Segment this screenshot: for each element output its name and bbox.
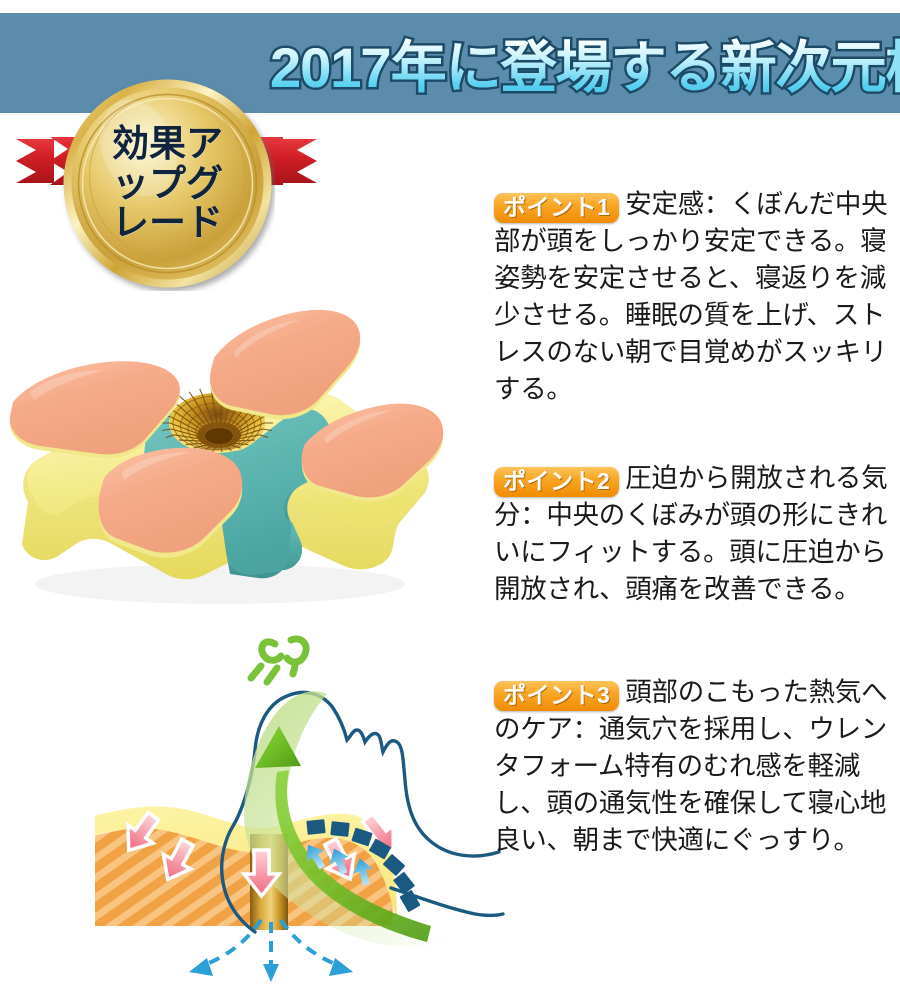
point-item-2: ポイント2圧迫から開放される気分：中央のくぼみが頭の形にきれいにフィットする。頭… [494, 460, 894, 608]
point-1-badge: ポイント1 [494, 193, 619, 223]
point-3-body: ポイント3頭部のこもった熱気へのケア：通気穴を採用し、ウレンタフォーム特有のむれ… [494, 674, 894, 859]
cross-section-diagram [95, 620, 505, 1000]
product-photo-pillow [0, 296, 460, 616]
comfort-marks [251, 639, 306, 682]
seal-label-line-2: ップグ [112, 164, 223, 204]
seal-label-line-1: 効果ア [112, 124, 223, 164]
point-item-1: ポイント1安定感：くぼんだ中央部が頭をしっかり安定できる。寝姿勢を安定させると、… [494, 186, 894, 408]
point-2-body: ポイント2圧迫から開放される気分：中央のくぼみが頭の形にきれいにフィットする。頭… [494, 460, 894, 608]
point-2-badge: ポイント2 [494, 467, 619, 497]
point-1-body: ポイント1安定感：くぼんだ中央部が頭をしっかり安定できる。寝姿勢を安定させると、… [494, 186, 894, 408]
advertisement-page: 2017年に登場する新次元枕 2017年に登場する新次元枕 [0, 0, 900, 1000]
seal-label-line-3: レード [112, 203, 223, 243]
point-item-3: ポイント3頭部のこもった熱気へのケア：通気穴を採用し、ウレンタフォーム特有のむれ… [494, 674, 894, 859]
seal-label: 効果ア ップグ レード [60, 76, 275, 291]
points-list: ポイント1安定感：くぼんだ中央部が頭をしっかり安定できる。寝姿勢を安定させると、… [494, 186, 894, 895]
point-3-badge: ポイント3 [494, 681, 619, 711]
airflow-out-arrows [207, 920, 335, 966]
page-title: 2017年に登場する新次元枕 [270, 33, 890, 103]
